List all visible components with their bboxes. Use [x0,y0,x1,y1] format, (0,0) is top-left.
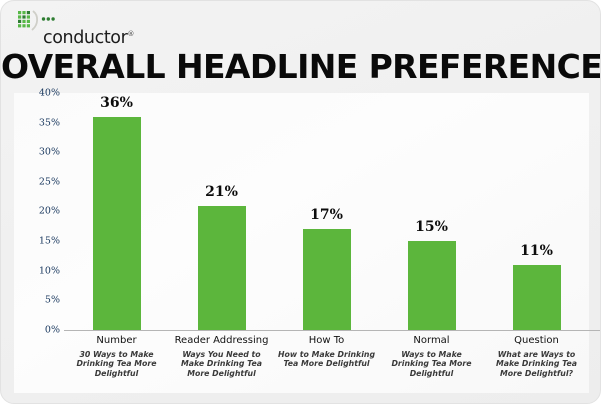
bar-value-label: 21% [205,185,238,199]
y-axis: 40% 35% 30% 25% 20% 15% 10% 5% 0% [14,93,60,331]
bar-slot: 17% [274,93,379,330]
x-category-example: Ways to Make Drinking Tea More Delightfu… [379,350,484,380]
bar-how-to[interactable] [303,229,351,330]
bar-number[interactable] [93,117,141,330]
x-category-name: Reader Addressing [169,335,274,348]
x-axis: Number 30 Ways to Make Drinking Tea More… [64,335,589,391]
registered-mark: ® [127,30,134,38]
bar-slot: 36% [64,93,169,330]
x-category-number: Number 30 Ways to Make Drinking Tea More… [64,335,169,379]
x-category-name: Number [64,335,169,348]
y-tick-label: 40% [16,88,60,98]
brand-wordmark: conductor® [43,30,134,48]
plot-area: 36% 21% 17% 15% 11% [64,93,589,331]
y-tick-label: 30% [16,147,60,157]
chart-plot-region: 40% 35% 30% 25% 20% 15% 10% 5% 0% 36% 21… [14,93,589,393]
x-category-name: Question [484,335,589,348]
x-category-name: Normal [379,335,484,348]
bar-slot: 21% [169,93,274,330]
bar-value-label: 36% [100,96,133,110]
bar-normal[interactable] [408,241,456,330]
x-axis-line [64,330,601,331]
y-tick-label: 10% [16,266,60,276]
y-tick-label: 0% [16,325,60,335]
x-category-question: Question What are Ways to Make Drinking … [484,335,589,379]
x-category-example: Ways You Need to Make Drinking Tea More … [169,350,274,380]
bar-question[interactable] [513,265,561,330]
bar-reader-addressing[interactable] [198,206,246,330]
brand-logo: conductor® [17,10,217,48]
x-category-how-to: How To How to Make Drinking Tea More Del… [274,335,379,369]
chart-card: conductor® OVERALL HEADLINE PREFERENCES … [0,0,601,404]
y-tick-label: 35% [16,118,60,128]
x-category-normal: Normal Ways to Make Drinking Tea More De… [379,335,484,379]
page-title: OVERALL HEADLINE PREFERENCES [1,50,600,83]
y-tick-label: 5% [16,295,60,305]
bar-value-label: 11% [520,244,553,258]
y-tick-label: 15% [16,236,60,246]
bar-slot: 15% [379,93,484,330]
y-tick-label: 25% [16,177,60,187]
x-category-example: How to Make Drinking Tea More Delightful [274,350,379,370]
brand-wordmark-text: conductor [43,28,127,48]
x-category-reader-addressing: Reader Addressing Ways You Need to Make … [169,335,274,379]
bar-value-label: 15% [415,220,448,234]
x-category-example: What are Ways to Make Drinking Tea More … [484,350,589,380]
bar-slot: 11% [484,93,589,330]
bar-value-label: 17% [310,208,343,222]
y-tick-label: 20% [16,207,60,217]
x-category-name: How To [274,335,379,348]
x-category-example: 30 Ways to Make Drinking Tea More Deligh… [64,350,169,380]
